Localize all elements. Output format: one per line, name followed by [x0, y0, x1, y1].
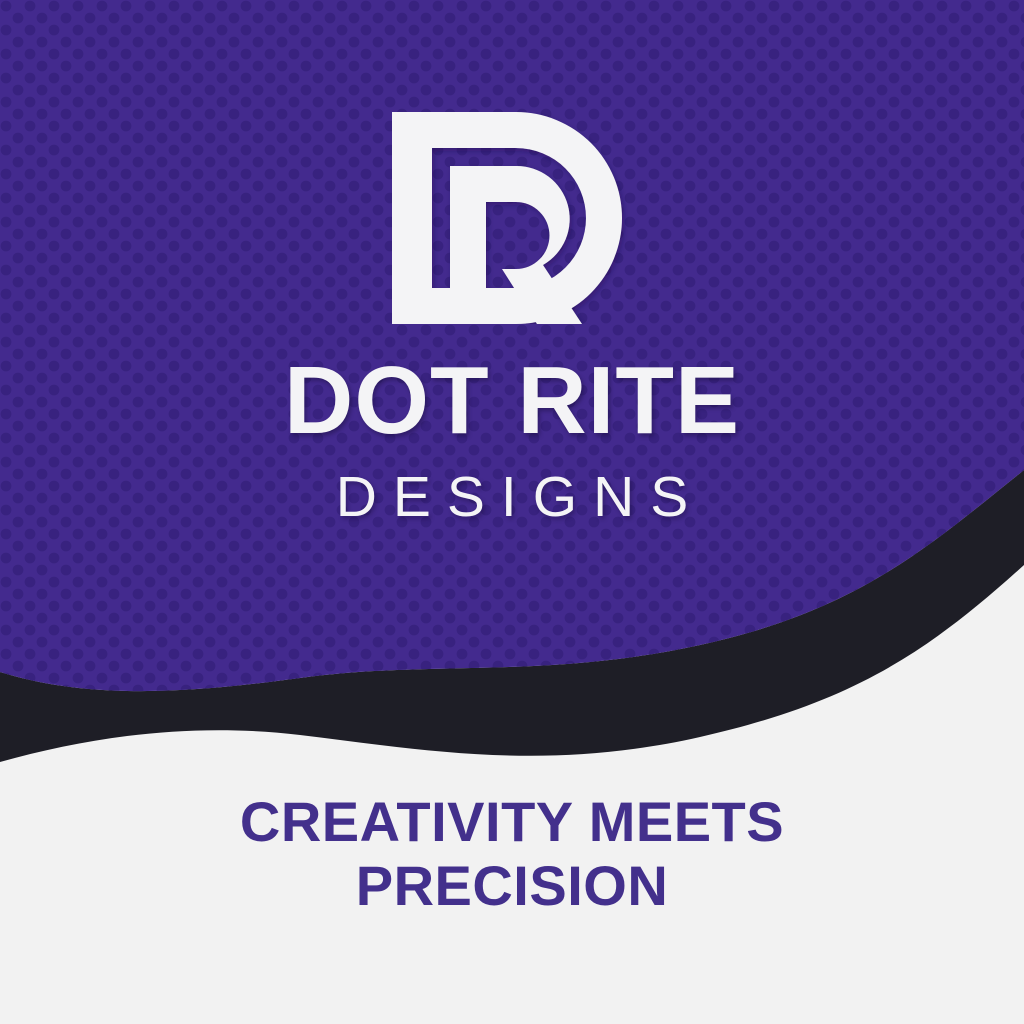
tagline: CREATIVITY MEETS PRECISION [0, 790, 1024, 918]
tagline-line-1: CREATIVITY MEETS [0, 790, 1024, 854]
dr-monogram-icon [392, 112, 636, 324]
logo-canvas: DOT RITE DESIGNS CREATIVITY MEETS PRECIS… [0, 0, 1024, 1024]
tagline-line-2: PRECISION [0, 854, 1024, 918]
brand-name-primary: DOT RITE [0, 353, 1024, 449]
brand-name-secondary: DESIGNS [0, 469, 1024, 526]
